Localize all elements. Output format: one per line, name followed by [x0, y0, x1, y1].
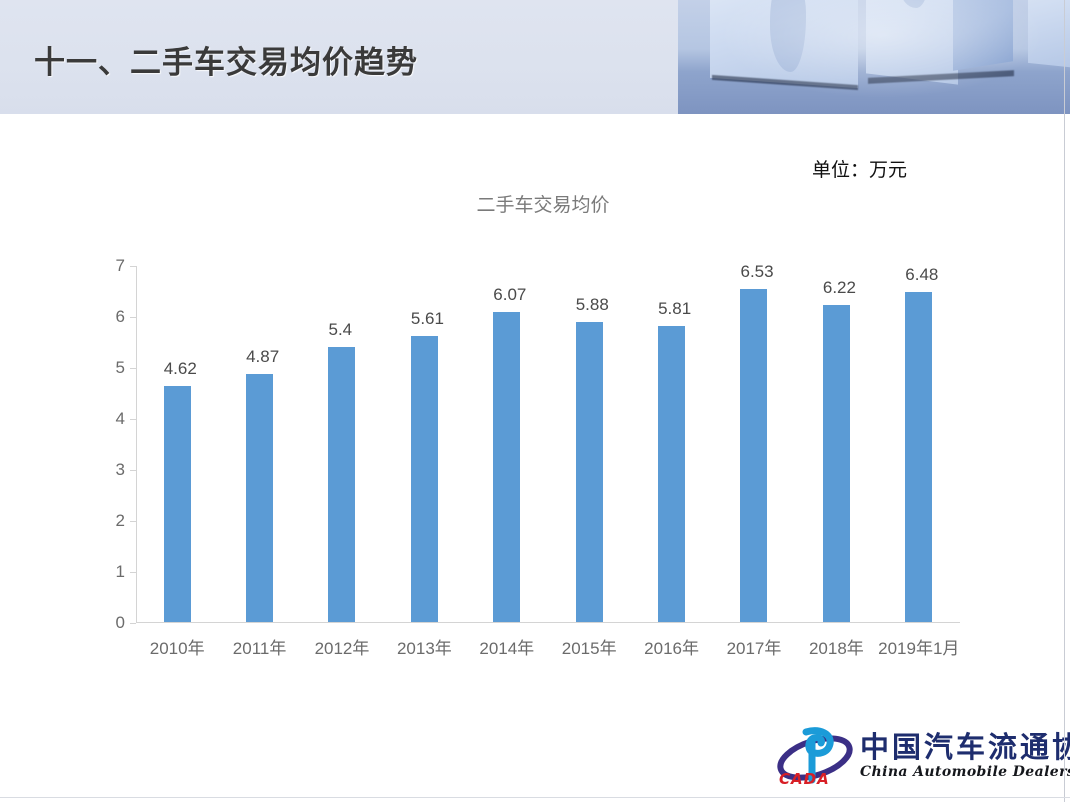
bar-rect[interactable]: 5.88 [576, 322, 603, 622]
slide-bottom-border [0, 797, 1070, 798]
bar-rect[interactable]: 6.53 [740, 289, 767, 622]
cada-chinese-name: 中国汽车流通协会 [860, 724, 1070, 766]
x-axis-tick-label: 2019年1月 [878, 634, 959, 659]
bar-item[interactable]: 4.872011年 [218, 374, 300, 622]
bar-value-label: 4.87 [246, 347, 279, 367]
bar-value-label: 6.48 [905, 265, 938, 285]
x-axis-tick-label: 2014年 [479, 634, 534, 659]
bar-item[interactable]: 5.812016年 [630, 326, 712, 622]
bar-rect[interactable]: 6.07 [493, 312, 520, 622]
y-axis-tick-mark [130, 623, 136, 624]
bar-chart: 二手车交易均价 01234567 4.622010年4.872011年5.420… [0, 190, 1070, 680]
x-axis-tick-label: 2016年 [644, 634, 699, 659]
header-decorative-cubes-image [678, 0, 1070, 116]
bar-value-label: 6.53 [740, 262, 773, 282]
y-axis-tick-label: 1 [116, 562, 125, 582]
x-axis-tick-label: 2013年 [397, 634, 452, 659]
y-axis-tick-label: 6 [116, 307, 125, 327]
y-axis-tick-label: 5 [116, 358, 125, 378]
y-axis-tick-label: 0 [116, 613, 125, 633]
bar-value-label: 5.88 [576, 295, 609, 315]
chart-unit-label: 单位：万元 [812, 155, 907, 182]
cada-logo: CADA 中国汽车流通协会 China Automobile Dealers A… [776, 722, 1058, 794]
x-axis-tick-label: 2011年 [233, 634, 287, 659]
slide: 十一、二手车交易均价趋势 单位：万元 二手车交易均价 01234567 4.62… [0, 0, 1070, 802]
bar-item[interactable]: 6.222018年 [795, 305, 877, 622]
chart-plot-area: 01234567 4.622010年4.872011年5.42012年5.612… [136, 266, 960, 623]
y-axis-tick-label: 3 [116, 460, 125, 480]
bar-value-label: 6.07 [493, 285, 526, 305]
header-art-highlight [678, 0, 1070, 116]
y-axis-tick-mark [130, 317, 136, 318]
bar-item[interactable]: 4.622010年 [136, 386, 218, 622]
x-axis-tick-label: 2017年 [727, 634, 782, 659]
y-axis-tick-mark [130, 266, 136, 267]
bar-rect[interactable]: 5.4 [328, 347, 355, 622]
y-axis-tick-label: 7 [116, 256, 125, 276]
bar-value-label: 5.61 [411, 309, 444, 329]
y-axis-tick-label: 4 [116, 409, 125, 429]
bar-rect[interactable]: 5.81 [658, 326, 685, 622]
bar-rect[interactable]: 6.22 [823, 305, 850, 622]
bar-rect[interactable]: 4.62 [164, 386, 191, 622]
chart-title: 二手车交易均价 [0, 190, 1070, 217]
y-axis-tick-mark [130, 368, 136, 369]
slide-right-border [1064, 0, 1065, 802]
bar-item[interactable]: 6.072014年 [466, 312, 548, 622]
page-title: 十一、二手车交易均价趋势 [34, 44, 418, 82]
x-axis-line [136, 622, 960, 623]
bar-item[interactable]: 5.42012年 [301, 347, 383, 622]
bar-rect[interactable]: 6.48 [905, 292, 932, 622]
x-axis-tick-label: 2010年 [150, 634, 205, 659]
x-axis-tick-label: 2018年 [809, 634, 864, 659]
bar-item[interactable]: 6.532017年 [713, 289, 795, 622]
bar-value-label: 5.4 [328, 320, 352, 340]
bar-value-label: 5.81 [658, 299, 691, 319]
bar-item[interactable]: 5.882015年 [548, 322, 630, 622]
cada-english-name: China Automobile Dealers Association [860, 764, 1070, 780]
x-axis-tick-label: 2012年 [315, 634, 370, 659]
cada-abbrev-text: CADA [779, 770, 830, 788]
bar-rect[interactable]: 4.87 [246, 374, 273, 622]
bar-item[interactable]: 6.482019年1月 [878, 292, 960, 622]
bar-value-label: 4.62 [164, 359, 197, 379]
bar-value-label: 6.22 [823, 278, 856, 298]
bar-rect[interactable]: 5.61 [411, 336, 438, 622]
x-axis-tick-label: 2015年 [562, 634, 617, 659]
slide-header-band: 十一、二手车交易均价趋势 [0, 0, 1070, 116]
bar-item[interactable]: 5.612013年 [383, 336, 465, 622]
y-axis-tick-label: 2 [116, 511, 125, 531]
